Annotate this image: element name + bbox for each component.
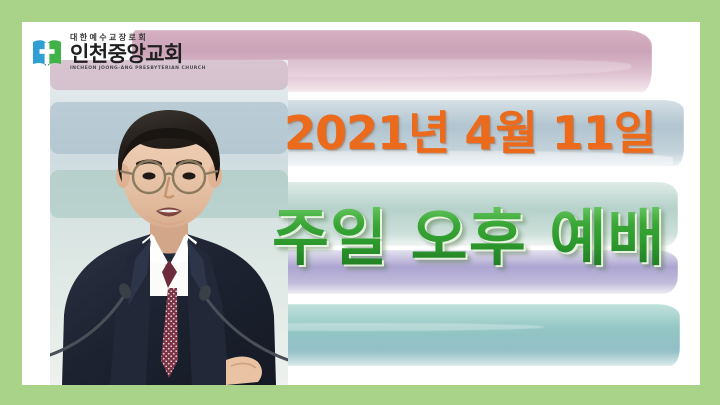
church-logo: 대한예수교장로회 인천중앙교회 INCHEON JOONG-ANG PRESBY… [30,26,186,80]
logo-text-block: 대한예수교장로회 인천중앙교회 INCHEON JOONG-ANG PRESBY… [70,34,206,72]
sermon-thumbnail: 대한예수교장로회 인천중앙교회 INCHEON JOONG-ANG PRESBY… [0,0,720,405]
cross-open-bible-icon [30,36,64,70]
preacher-photo [50,60,288,385]
preacher-illustration [50,60,288,385]
logo-denomination-kr: 대한예수교장로회 [70,34,206,42]
logo-church-name-en: INCHEON JOONG-ANG PRESBYTERIAN CHURCH [70,67,206,72]
service-title-text: 주일 오후 예배 [272,207,700,269]
white-content-card: 대한예수교장로회 인천중앙교회 INCHEON JOONG-ANG PRESBY… [22,22,700,385]
sermon-date-text: 2021년 4월 11일 [284,110,694,156]
logo-church-name-kr: 인천중앙교회 [70,43,206,65]
